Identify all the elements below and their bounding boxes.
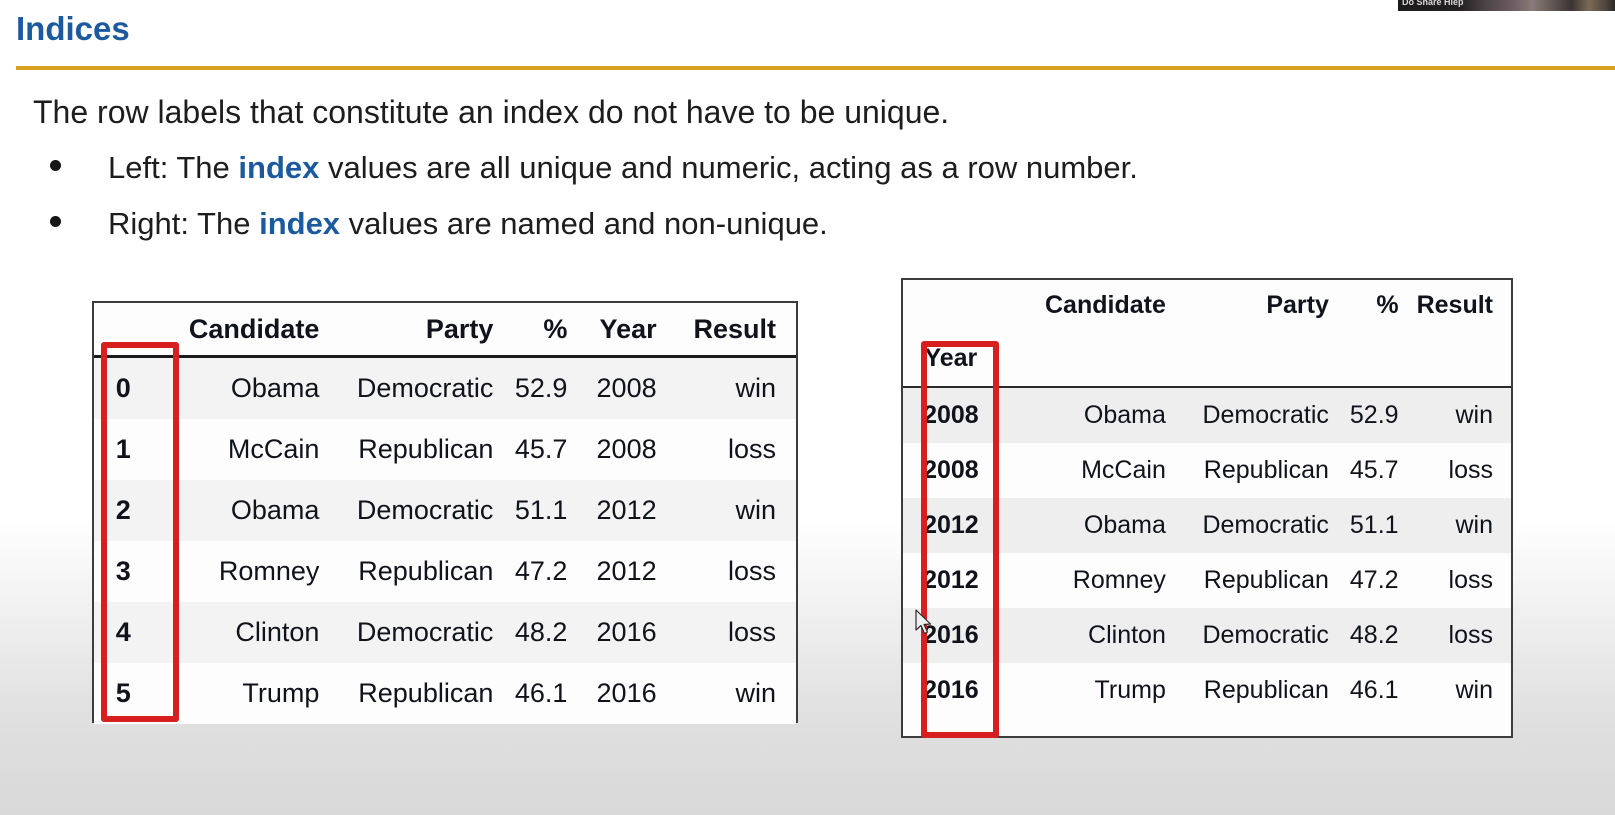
cell-index: 4 [94, 602, 152, 663]
cell-party: Republican [339, 541, 513, 602]
cell-index: 0 [94, 357, 152, 420]
dataframe-numeric-index: Candidate Party % Year Result 0ObamaDemo… [92, 301, 798, 723]
table-numeric-index: Candidate Party % Year Result 0ObamaDemo… [94, 303, 796, 724]
cell-party: Republican [1184, 443, 1347, 498]
dataframe-named-index: Candidate Party % Result Year 2008ObamaD… [901, 278, 1513, 738]
index-name-year: Year [903, 330, 999, 387]
cell-candidate: Trump [152, 663, 339, 724]
cell-candidate: Obama [152, 480, 339, 541]
cell-party: Democratic [339, 480, 513, 541]
table-row: 2008McCainRepublican45.7loss [903, 443, 1511, 498]
cell-percent: 52.9 [1347, 387, 1417, 443]
cell-party: Democratic [1184, 608, 1347, 663]
cell-year: 2008 [587, 357, 676, 420]
column-header-percent: % [1347, 280, 1417, 330]
cell-index: 5 [94, 663, 152, 724]
index-row-spacer-3 [1347, 330, 1417, 387]
cell-candidate: Clinton [152, 602, 339, 663]
bullet-left-text: Left: The index values are all unique an… [108, 150, 1138, 186]
cell-party: Republican [1184, 663, 1347, 718]
cell-result: loss [677, 602, 796, 663]
cell-percent: 46.1 [513, 663, 587, 724]
cell-index: 2008 [903, 443, 999, 498]
cell-percent: 45.7 [1347, 443, 1417, 498]
cell-party: Republican [339, 419, 513, 480]
cell-result: loss [1417, 553, 1511, 608]
cell-candidate: Clinton [999, 608, 1184, 663]
column-header-party: Party [1184, 280, 1347, 330]
cell-party: Democratic [339, 602, 513, 663]
cell-party: Democratic [1184, 387, 1347, 443]
bullet-item-right: Right: The index values are named and no… [50, 206, 828, 242]
cell-percent: 45.7 [513, 419, 587, 480]
cell-percent: 47.2 [1347, 553, 1417, 608]
table-row: 3RomneyRepublican47.22012loss [94, 541, 796, 602]
cell-party: Democratic [1184, 498, 1347, 553]
bullet-left-prefix: Left: The [108, 150, 238, 185]
table-row: 2012RomneyRepublican47.2loss [903, 553, 1511, 608]
cell-index: 2 [94, 480, 152, 541]
cell-party: Democratic [339, 357, 513, 420]
table-header-row-index-name: Year [903, 330, 1511, 387]
cell-candidate: Romney [999, 553, 1184, 608]
cell-result: loss [1417, 608, 1511, 663]
table-row: 2016ClintonDemocratic48.2loss [903, 608, 1511, 663]
cell-result: loss [1417, 443, 1511, 498]
table-row: 1McCainRepublican45.72008loss [94, 419, 796, 480]
bullet-left-suffix: values are all unique and numeric, actin… [319, 150, 1138, 185]
table-row: 2ObamaDemocratic51.12012win [94, 480, 796, 541]
title-divider [16, 66, 1615, 70]
cell-index: 2012 [903, 553, 999, 608]
bullet-right-suffix: values are named and non-unique. [340, 206, 828, 241]
cell-result: win [677, 663, 796, 724]
bullet-dot-icon [50, 216, 61, 227]
bullet-right-prefix: Right: The [108, 206, 259, 241]
cell-percent: 52.9 [513, 357, 587, 420]
page-title: Indices [16, 12, 130, 45]
cell-index: 2008 [903, 387, 999, 443]
cell-party: Republican [339, 663, 513, 724]
cell-index: 1 [94, 419, 152, 480]
cell-candidate: Trump [999, 663, 1184, 718]
webcam-label: Do Share Hlep [1402, 0, 1464, 7]
table-row: 0ObamaDemocratic52.92008win [94, 357, 796, 420]
column-header-result: Result [677, 303, 796, 357]
table-named-index: Candidate Party % Result Year 2008ObamaD… [903, 280, 1511, 718]
cell-percent: 46.1 [1347, 663, 1417, 718]
cell-party: Republican [1184, 553, 1347, 608]
table-row: 2008ObamaDemocratic52.9win [903, 387, 1511, 443]
cell-candidate: Obama [999, 498, 1184, 553]
cell-percent: 51.1 [1347, 498, 1417, 553]
cell-candidate: Obama [999, 387, 1184, 443]
cell-result: win [1417, 387, 1511, 443]
bullet-right-keyword: index [259, 206, 340, 241]
table-row: 2012ObamaDemocratic51.1win [903, 498, 1511, 553]
cell-percent: 51.1 [513, 480, 587, 541]
column-header-candidate: Candidate [152, 303, 339, 357]
table-head: Candidate Party % Year Result [94, 303, 796, 357]
cell-result: win [1417, 663, 1511, 718]
cell-index: 3 [94, 541, 152, 602]
table-header-row-columns: Candidate Party % Result [903, 280, 1511, 330]
column-header-percent: % [513, 303, 587, 357]
webcam-video-strip: Do Share Hlep [1398, 0, 1615, 11]
column-header-party: Party [339, 303, 513, 357]
cell-candidate: McCain [999, 443, 1184, 498]
cell-index: 2012 [903, 498, 999, 553]
cell-result: win [677, 480, 796, 541]
table-row: 2016TrumpRepublican46.1win [903, 663, 1511, 718]
cell-year: 2016 [587, 663, 676, 724]
cell-percent: 48.2 [513, 602, 587, 663]
column-header-candidate: Candidate [999, 280, 1184, 330]
table-row: 5TrumpRepublican46.12016win [94, 663, 796, 724]
cell-percent: 47.2 [513, 541, 587, 602]
cell-candidate: Obama [152, 357, 339, 420]
cell-result: loss [677, 541, 796, 602]
bullet-left-keyword: index [238, 150, 319, 185]
mouse-cursor-icon [915, 609, 935, 639]
table-head: Candidate Party % Result Year [903, 280, 1511, 387]
cell-index: 2016 [903, 663, 999, 718]
table-body: 0ObamaDemocratic52.92008win1McCainRepubl… [94, 357, 796, 725]
table-row: 4ClintonDemocratic48.22016loss [94, 602, 796, 663]
table-body: 2008ObamaDemocratic52.9win2008McCainRepu… [903, 387, 1511, 718]
column-header-result: Result [1417, 280, 1511, 330]
index-row-spacer-1 [999, 330, 1184, 387]
cell-candidate: McCain [152, 419, 339, 480]
cell-result: win [677, 357, 796, 420]
table-header-row: Candidate Party % Year Result [94, 303, 796, 357]
cell-result: loss [677, 419, 796, 480]
cell-year: 2012 [587, 480, 676, 541]
cell-result: win [1417, 498, 1511, 553]
column-header-spacer [903, 280, 999, 330]
index-row-spacer-4 [1417, 330, 1511, 387]
column-header-year: Year [587, 303, 676, 357]
cell-percent: 48.2 [1347, 608, 1417, 663]
lead-paragraph: The row labels that constitute an index … [33, 94, 949, 131]
column-header-index [94, 303, 152, 357]
cell-candidate: Romney [152, 541, 339, 602]
bullet-item-left: Left: The index values are all unique an… [50, 150, 1138, 186]
cell-year: 2012 [587, 541, 676, 602]
bullet-right-text: Right: The index values are named and no… [108, 206, 828, 242]
cell-year: 2016 [587, 602, 676, 663]
index-row-spacer-2 [1184, 330, 1347, 387]
cell-year: 2008 [587, 419, 676, 480]
bullet-dot-icon [50, 160, 61, 171]
